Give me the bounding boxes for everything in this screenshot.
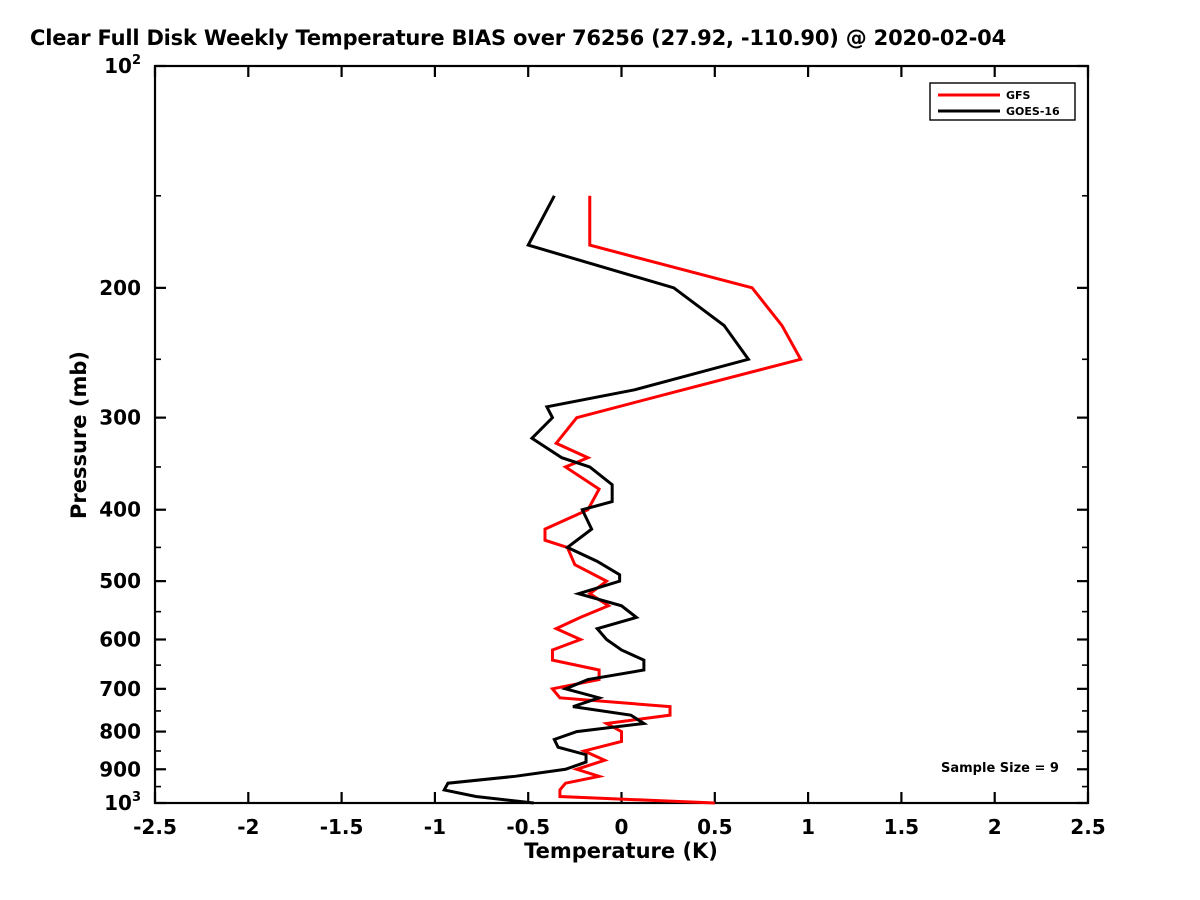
y-axis-label: Pressure (mb) — [67, 351, 91, 519]
x-tick-label: 1.5 — [884, 815, 919, 839]
y-tick-label: 600 — [99, 627, 141, 651]
x-axis-label: Temperature (K) — [524, 839, 718, 863]
y-tick-label: 103 — [104, 790, 141, 815]
x-tick-label: 1 — [801, 815, 815, 839]
x-tick-label: -1.5 — [320, 815, 364, 839]
y-tick-label: 900 — [99, 757, 141, 781]
data-series-group — [444, 196, 800, 803]
x-tick-label: 2.5 — [1070, 815, 1105, 839]
axes-frame — [155, 66, 1088, 803]
y-tick-label: 300 — [99, 406, 141, 430]
x-tick-label: -2.5 — [133, 815, 177, 839]
legend[interactable]: GFSGOES-16 — [930, 83, 1075, 120]
sample-size-annotation: Sample Size = 9 — [941, 761, 1059, 776]
y-tick-label: 400 — [99, 498, 141, 522]
x-tick-label: 2 — [988, 815, 1002, 839]
x-tick-label: -2 — [237, 815, 259, 839]
y-tick-label: 700 — [99, 677, 141, 701]
y-tick-label: 500 — [99, 569, 141, 593]
legend-label-gfs: GFS — [1006, 89, 1031, 102]
series-line-goes-16 — [444, 196, 748, 803]
legend-label-goes-16: GOES-16 — [1006, 105, 1060, 118]
y-tick-label: 800 — [99, 720, 141, 744]
y-tick-label: 200 — [99, 276, 141, 300]
x-tick-label: -0.5 — [506, 815, 550, 839]
x-tick-label: -1 — [424, 815, 446, 839]
x-tick-label: 0.5 — [697, 815, 732, 839]
x-tick-label: 0 — [615, 815, 629, 839]
figure-canvas: Clear Full Disk Weekly Temperature BIAS … — [0, 0, 1200, 900]
y-tick-label: 102 — [104, 53, 141, 78]
plot-area: -2.5-2-1.5-1-0.500.511.522.5 10220030040… — [0, 0, 1200, 900]
